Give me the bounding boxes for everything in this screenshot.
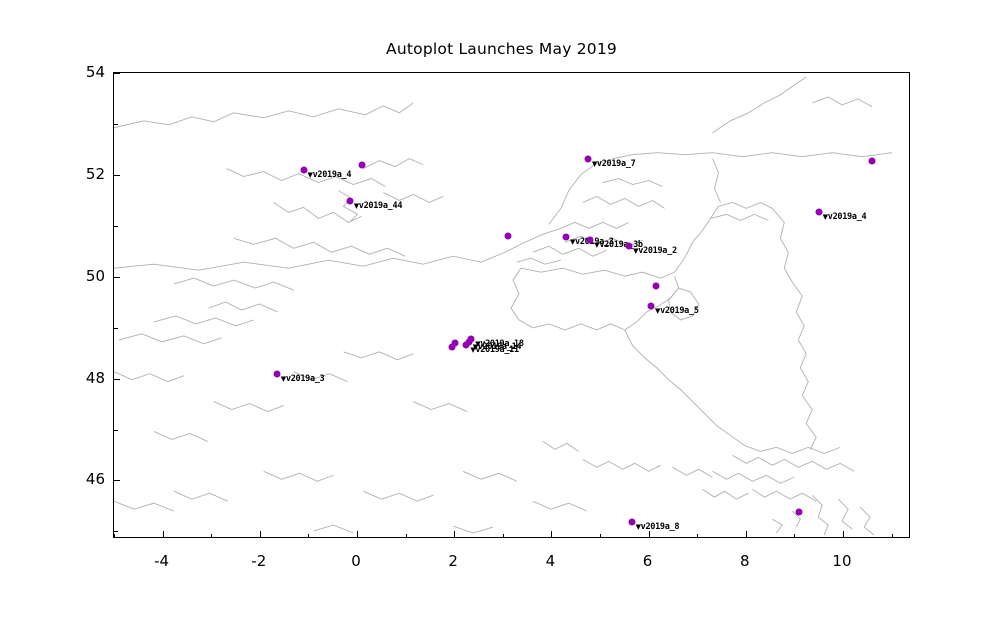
scatter-marker (869, 158, 876, 165)
scatter-marker (796, 509, 803, 516)
y-tick-label: 54 (67, 63, 105, 81)
page-title: Autoplot Launches May 2019 (0, 40, 1003, 58)
y-tick-label: 52 (67, 165, 105, 183)
scatter-marker (815, 208, 822, 215)
x-tick-label: 8 (740, 552, 750, 570)
x-tick-minor (308, 534, 309, 538)
point-label: ▼v2019a_44 (354, 202, 402, 211)
x-tick-label: 6 (643, 552, 653, 570)
point-label: ▼v2019a_4 (823, 212, 867, 221)
x-tick-major (746, 531, 747, 537)
y-tick-major (114, 379, 120, 380)
scatter-marker (628, 519, 635, 526)
point-label: ▼v2019a_3 (281, 375, 325, 384)
scatter-marker (562, 233, 569, 240)
x-tick-major (357, 531, 358, 537)
x-tick-minor (503, 534, 504, 538)
figure-canvas: Autoplot Launches May 2019 (0, 0, 1003, 633)
point-label: ▼v2019a_5 (655, 306, 699, 315)
point-label: ▼v2019a_7 (592, 159, 636, 168)
y-tick-minor (114, 430, 118, 431)
x-tick-label: 4 (546, 552, 556, 570)
x-tick-minor (406, 534, 407, 538)
scatter-marker (358, 161, 365, 168)
y-tick-minor (114, 531, 118, 532)
scatter-marker (463, 341, 470, 348)
x-tick-label: -2 (251, 552, 266, 570)
x-tick-major (260, 531, 261, 537)
x-tick-major (454, 531, 455, 537)
point-label-text: v2019a_3 (286, 374, 325, 384)
x-tick-major (163, 531, 164, 537)
point-label: ▼v2019a_11 (470, 346, 518, 355)
point-label-text: v2019a_2 (638, 246, 677, 256)
point-label-text: v2019a_4 (828, 211, 867, 221)
scatter-marker (273, 371, 280, 378)
x-tick-label: 0 (351, 552, 361, 570)
point-label: ▼v2019a_4 (308, 171, 352, 180)
x-tick-label: -4 (154, 552, 169, 570)
y-tick-major (114, 277, 120, 278)
x-tick-major (843, 531, 844, 537)
y-tick-major (114, 480, 120, 481)
point-label-text: v2019a_7 (597, 158, 636, 168)
point-label-text: v2019a_4 (313, 170, 352, 180)
x-tick-minor (697, 534, 698, 538)
y-tick-minor (114, 328, 118, 329)
plot-area: ▼v2019a_4▼v2019a_44▼v2019a_7▼v2019a_4▼v2… (113, 72, 910, 538)
point-label-text: v2019a_8 (641, 522, 680, 532)
y-tick-label: 48 (67, 369, 105, 387)
scatter-marker (448, 343, 455, 350)
x-tick-major (649, 531, 650, 537)
x-tick-minor (892, 534, 893, 538)
y-tick-label: 46 (67, 470, 105, 488)
x-tick-label: 10 (832, 552, 851, 570)
point-label: ▼v2019a_8 (636, 523, 680, 532)
point-label-text: v2019a_5 (660, 305, 699, 315)
x-tick-minor (794, 534, 795, 538)
x-tick-major (551, 531, 552, 537)
scatter-marker (587, 236, 594, 243)
x-tick-label: 2 (448, 552, 458, 570)
x-tick-minor (114, 534, 115, 538)
scatter-marker (652, 282, 659, 289)
y-tick-minor (114, 124, 118, 125)
scatter-marker (346, 198, 353, 205)
scatter-marker (648, 302, 655, 309)
y-tick-minor (114, 226, 118, 227)
scatter-marker (584, 155, 591, 162)
y-tick-major (114, 73, 120, 74)
y-tick-major (114, 175, 120, 176)
scatter-marker (504, 232, 511, 239)
point-label-text: v2019a_44 (359, 201, 402, 211)
scatter-points-layer: ▼v2019a_4▼v2019a_44▼v2019a_7▼v2019a_4▼v2… (114, 73, 909, 537)
x-tick-minor (211, 534, 212, 538)
point-label-text: v2019a_11 (475, 345, 518, 355)
point-label: ▼v2019a_2 (633, 247, 677, 256)
scatter-marker (300, 166, 307, 173)
scatter-marker (626, 243, 633, 250)
x-tick-minor (600, 534, 601, 538)
y-tick-label: 50 (67, 267, 105, 285)
